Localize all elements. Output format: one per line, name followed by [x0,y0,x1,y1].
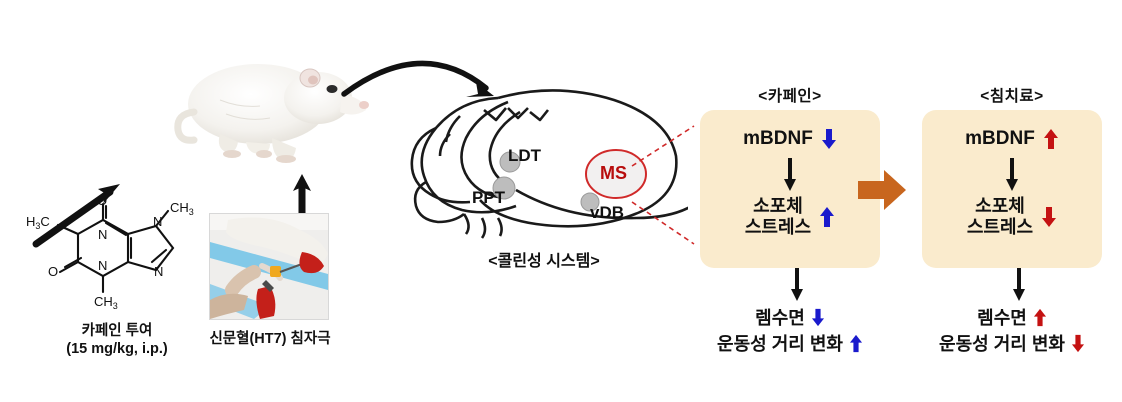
outcomes-acupuncture: 렘수면 운동성 거리 변화 [906,304,1118,356]
brain-region-label-ppt: PPT [472,188,505,208]
outcomes-caffeine: 렘수면 운동성 거리 변화 [684,304,896,356]
brain-region-label-ms: MS [600,163,627,184]
change-arrow-down-mbdnf-caffeine [821,128,837,150]
node-mbdnf-acupuncture: mBDNF [965,128,1035,150]
flow-arrow-2-acupuncture [1012,268,1026,302]
atom-nitrogen-3: N [98,258,107,273]
brain-caption: <콜린성 시스템> [404,252,684,272]
acupuncture-photograph [209,213,329,320]
pathway-panel-caffeine: <카페인> mBDNF 소포체 스트레스 [684,84,896,346]
flow-arrow-2-caffeine [790,268,804,302]
change-arrow-up-er-stress-caffeine [819,206,835,228]
flow-arrow-1-acupuncture [1005,158,1019,192]
panel-title-caffeine: <카페인> [684,84,896,104]
brain-region-label-vdb: vDB [590,203,624,223]
change-arrow-up-rem-acupuncture [1033,308,1047,327]
pathway-panel-acupuncture: <침치료> mBDNF 소포체 스트레스 [906,84,1118,346]
node-er-stress-caffeine: 소포체 스트레스 [745,196,811,238]
atom-oxygen-left: O [48,264,58,279]
atom-nitrogen-7: N [153,214,162,229]
outcome-rem-sleep-acupuncture: 렘수면 [906,304,1118,330]
change-arrow-down-rem-caffeine [811,308,825,327]
acupuncture-label: 신문혈(HT7) 침자극 [186,330,354,348]
panel-box-caffeine: mBDNF 소포체 스트레스 [700,110,880,268]
panel-box-acupuncture: mBDNF 소포체 스트레스 [922,110,1102,268]
brain-region-label-ldt: LDT [508,146,541,166]
flow-arrow-1-caffeine [783,158,797,192]
group-ch3-top: CH3 [170,200,194,217]
change-arrow-down-locomotion-acupuncture [1071,334,1085,353]
node-er-stress-acupuncture: 소포체 스트레스 [967,196,1033,238]
node-mbdnf-caffeine: mBDNF [743,128,813,150]
change-arrow-up-locomotion-caffeine [849,334,863,353]
change-arrow-up-mbdnf-acupuncture [1043,128,1059,150]
group-ch3-bottom: CH3 [94,294,118,311]
panel-title-acupuncture: <침치료> [906,84,1118,104]
outcome-rem-sleep-caffeine: 렘수면 [684,304,896,330]
change-arrow-down-er-stress-acupuncture [1041,206,1057,228]
figure-canvas: O O N N N N H3C CH3 CH3 카페인 투여 (15 mg/kg… [0,0,1122,402]
transition-arrow [856,168,908,212]
outcome-locomotion-acupuncture: 운동성 거리 변화 [906,330,1118,356]
outcome-locomotion-caffeine: 운동성 거리 변화 [684,330,896,356]
atom-nitrogen-9: N [154,264,163,279]
arrow-caffeine-to-rat [28,178,138,252]
